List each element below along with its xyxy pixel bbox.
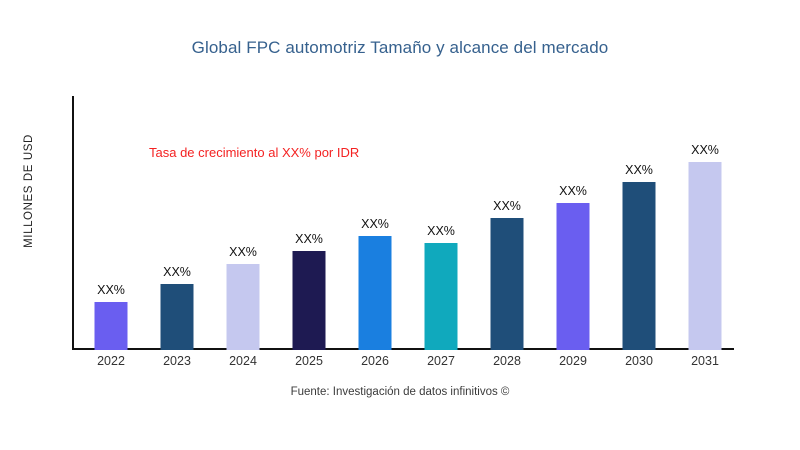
x-axis-tick-label: 2025 xyxy=(276,354,342,368)
bar-series: XX%2022XX%2023XX%2024XX%2025XX%2026XX%20… xyxy=(72,96,780,350)
x-axis-tick-label: 2024 xyxy=(210,354,276,368)
bar[interactable] xyxy=(161,284,194,350)
bar-value-label: XX% xyxy=(229,245,257,259)
x-axis-tick-label: 2023 xyxy=(144,354,210,368)
bar-group: XX% xyxy=(672,96,738,350)
bar-value-label: XX% xyxy=(493,199,521,213)
y-axis-label: MILLONES DE USD xyxy=(23,76,35,306)
x-axis-tick-label: 2022 xyxy=(78,354,144,368)
bar-group: XX% xyxy=(210,96,276,350)
bar[interactable] xyxy=(623,182,656,350)
bar-value-label: XX% xyxy=(625,163,653,177)
bar-value-label: XX% xyxy=(559,184,587,198)
bar-value-label: XX% xyxy=(295,232,323,246)
bar-group: XX% xyxy=(540,96,606,350)
bar[interactable] xyxy=(689,162,722,350)
bar-group: XX% xyxy=(276,96,342,350)
bar-value-label: XX% xyxy=(163,265,191,279)
bar-value-label: XX% xyxy=(97,283,125,297)
bar-group: XX% xyxy=(474,96,540,350)
chart-figure: Global FPC automotriz Tamaño y alcance d… xyxy=(0,0,800,450)
bar[interactable] xyxy=(95,302,128,350)
bar[interactable] xyxy=(491,218,524,350)
x-axis-tick-label: 2027 xyxy=(408,354,474,368)
bar-value-label: XX% xyxy=(427,224,455,238)
x-axis-tick-label: 2031 xyxy=(672,354,738,368)
bar[interactable] xyxy=(359,236,392,350)
bar-group: XX% xyxy=(342,96,408,350)
source-note: Fuente: Investigación de datos infinitiv… xyxy=(0,386,800,398)
x-axis-tick-label: 2029 xyxy=(540,354,606,368)
bar[interactable] xyxy=(425,243,458,350)
x-axis-tick-label: 2028 xyxy=(474,354,540,368)
growth-rate-annotation: Tasa de crecimiento al XX% por IDR xyxy=(149,145,359,160)
bar[interactable] xyxy=(293,251,326,350)
plot-area: XX%2022XX%2023XX%2024XX%2025XX%2026XX%20… xyxy=(72,96,780,350)
bar-group: XX% xyxy=(144,96,210,350)
chart-title: Global FPC automotriz Tamaño y alcance d… xyxy=(0,38,800,58)
bar-group: XX% xyxy=(78,96,144,350)
bar[interactable] xyxy=(557,203,590,350)
bar-value-label: XX% xyxy=(361,217,389,231)
bar-value-label: XX% xyxy=(691,143,719,157)
bar-group: XX% xyxy=(408,96,474,350)
x-axis-tick-label: 2026 xyxy=(342,354,408,368)
x-axis-tick-label: 2030 xyxy=(606,354,672,368)
bar-group: XX% xyxy=(606,96,672,350)
bar[interactable] xyxy=(227,264,260,350)
